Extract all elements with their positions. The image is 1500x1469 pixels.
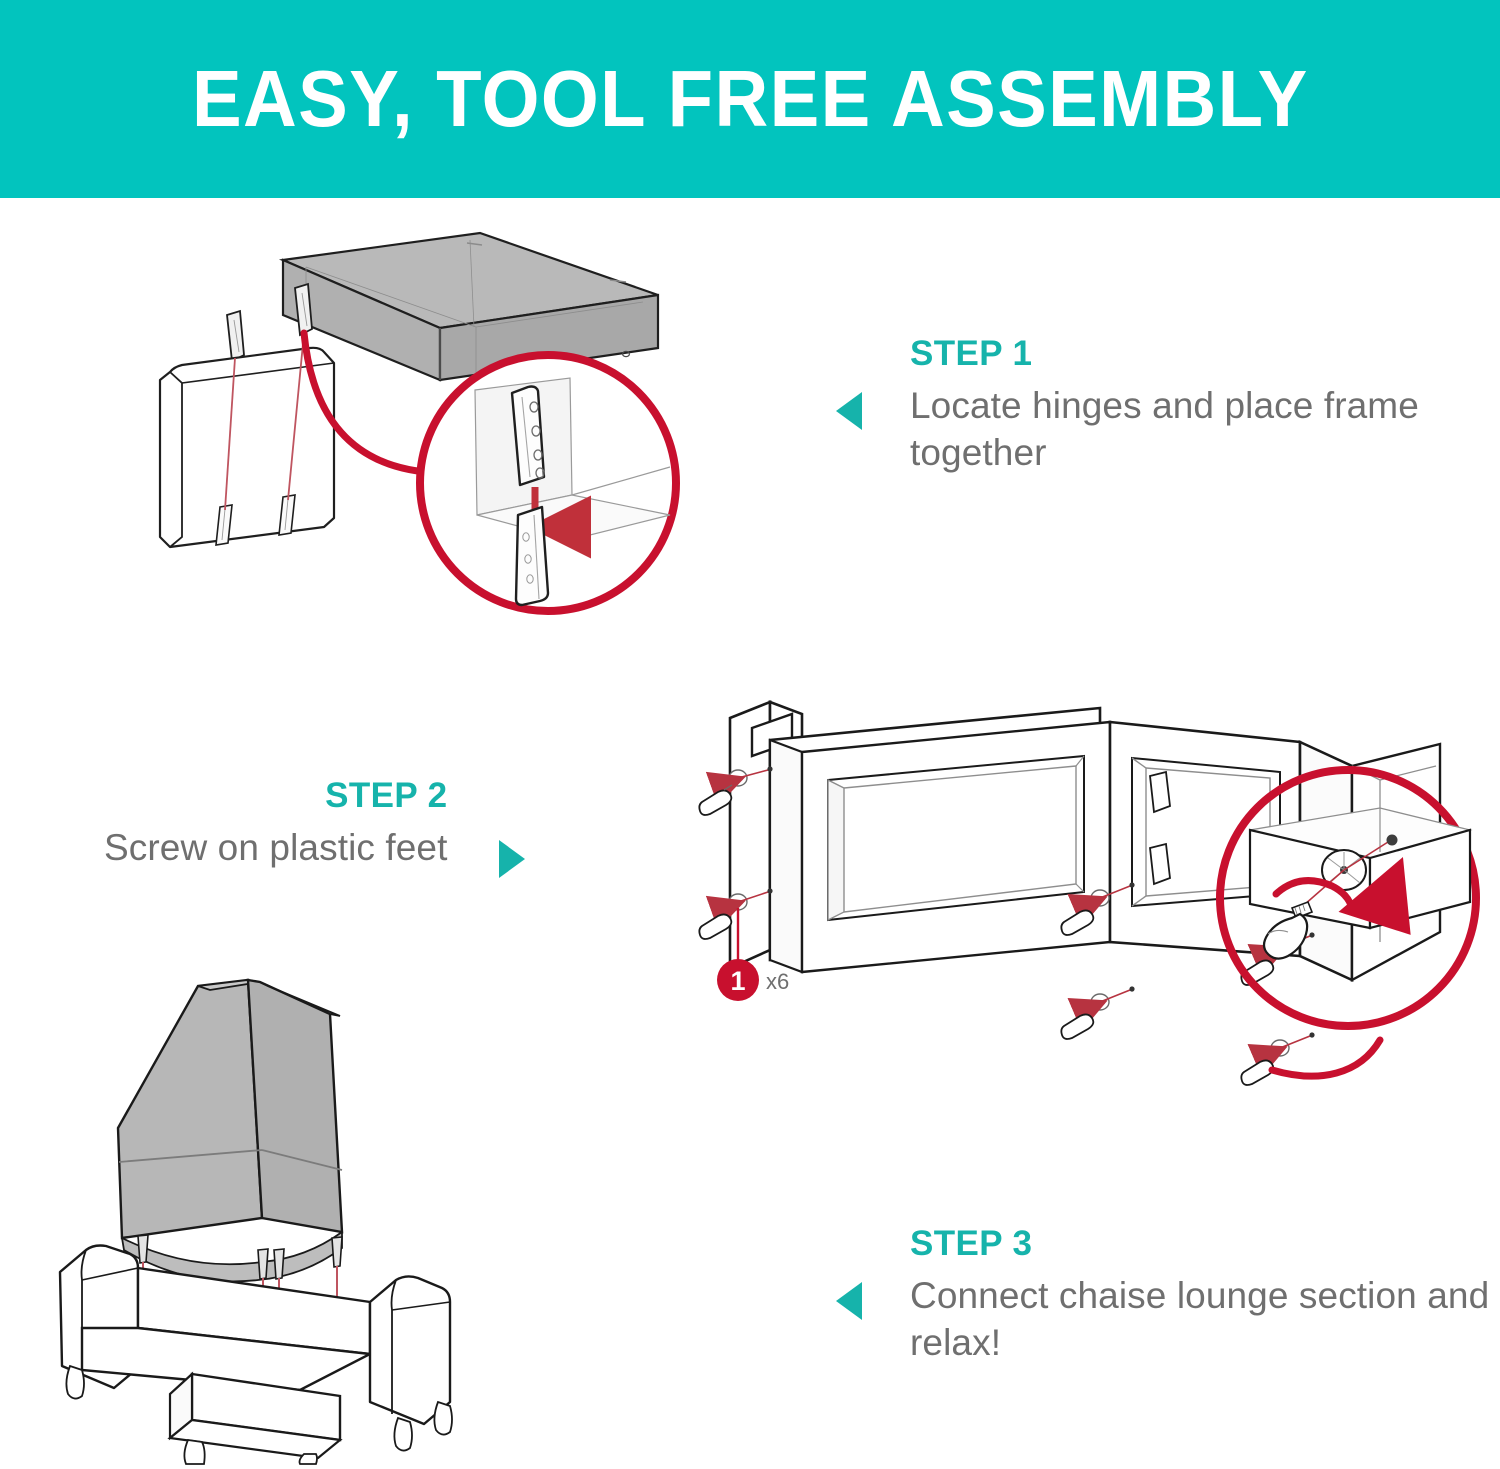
plastic-foot-4 <box>1061 986 1134 1039</box>
step-2-heading: STEP 2 <box>325 776 447 816</box>
step-3-body: Connect chaise lounge section and relax! <box>910 1273 1500 1367</box>
backrest-assembly <box>118 980 342 1281</box>
step-3-illustration <box>50 950 710 1465</box>
frame-main-rail <box>770 708 1110 972</box>
badge-quantity: x6 <box>766 969 789 994</box>
detail-hinge-slot <box>516 507 548 605</box>
triangle-left-icon <box>836 1282 862 1320</box>
backrest-panel <box>160 348 334 547</box>
hinge-bracket-upper <box>227 311 244 361</box>
foot-screw-detail-callout <box>1220 770 1476 1026</box>
page-title: EASY, TOOL FREE ASSEMBLY <box>192 53 1309 145</box>
step-2-block: STEP 2 Screw on plastic feet <box>104 776 525 878</box>
triangle-right-icon <box>499 840 525 878</box>
badge-number: 1 <box>730 966 745 996</box>
step-3-heading: STEP 3 <box>910 1224 1500 1264</box>
step-1-body: Locate hinges and place frame together <box>910 383 1500 477</box>
hinge-bracket-lower <box>295 284 312 335</box>
step-1-illustration <box>140 215 720 675</box>
step-2-illustration: 1 x6 <box>680 680 1500 1100</box>
header-banner: EASY, TOOL FREE ASSEMBLY <box>0 0 1500 198</box>
step-3-block: STEP 3 Connect chaise lounge section and… <box>836 1224 1500 1367</box>
hinge-bracket-detail-callout <box>420 355 676 611</box>
step-2-body: Screw on plastic feet <box>104 825 447 872</box>
step-1-block: STEP 1 Locate hinges and place frame tog… <box>836 334 1500 477</box>
step-1-heading: STEP 1 <box>910 334 1500 374</box>
triangle-left-icon <box>836 392 862 430</box>
